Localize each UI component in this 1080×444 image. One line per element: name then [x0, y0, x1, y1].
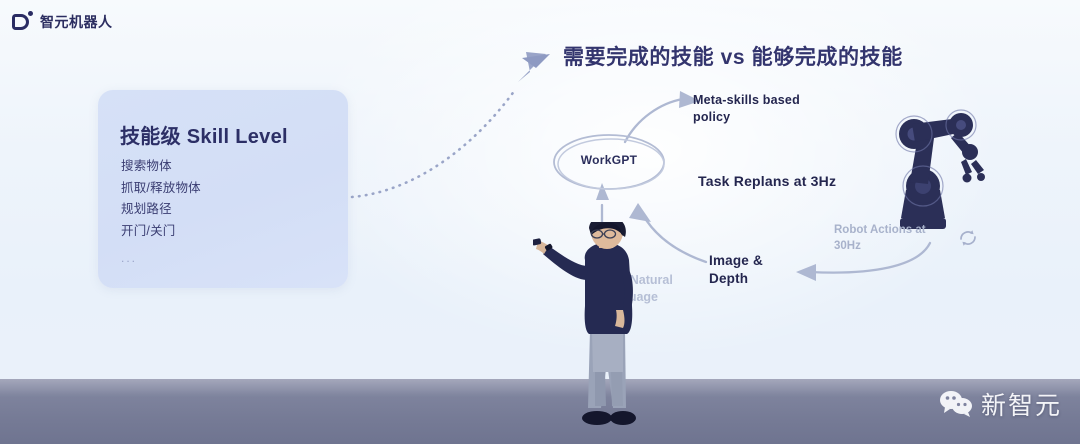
skill-level-card: 技能级 Skill Level 搜索物体 抓取/释放物体 规划路径 开门/关门 … — [98, 90, 348, 288]
list-item: 规划路径 — [121, 199, 201, 221]
arrowhead-icon — [796, 264, 816, 281]
presentation-stage: 智元机器人 需要完成的技能 vs 能够完成的技能 技能级 Skill Level… — [0, 0, 1080, 444]
aigibot-d-logo-icon — [12, 11, 33, 32]
skill-list: 搜索物体 抓取/释放物体 规划路径 开门/关门 ... — [121, 156, 201, 270]
refresh-cycle-icon — [956, 226, 980, 250]
workgpt-node — [549, 130, 669, 194]
watermark: 新智元 — [939, 386, 1062, 422]
wechat-icon — [939, 390, 973, 418]
label-task-replans: Task Replans at 3Hz — [698, 172, 836, 191]
label-image-depth: Image & Depth — [709, 252, 789, 288]
skill-card-heading: 技能级 Skill Level — [120, 120, 288, 149]
arrowhead-icon — [629, 203, 651, 222]
list-item: 搜索物体 — [121, 156, 201, 178]
page-title: 需要完成的技能 vs 能够完成的技能 — [563, 41, 903, 71]
list-item: 抓取/释放物体 — [121, 178, 201, 200]
presenter-figure — [533, 222, 661, 444]
brand-logo: 智元机器人 — [12, 11, 113, 32]
list-item: 开门/关门 — [121, 221, 201, 243]
curved-arrow-icon — [350, 32, 575, 202]
label-meta-skills-policy: Meta-skills based policy — [693, 92, 823, 126]
watermark-text: 新智元 — [981, 386, 1062, 422]
list-item-more: ... — [121, 242, 201, 270]
brand-name: 智元机器人 — [40, 12, 113, 32]
